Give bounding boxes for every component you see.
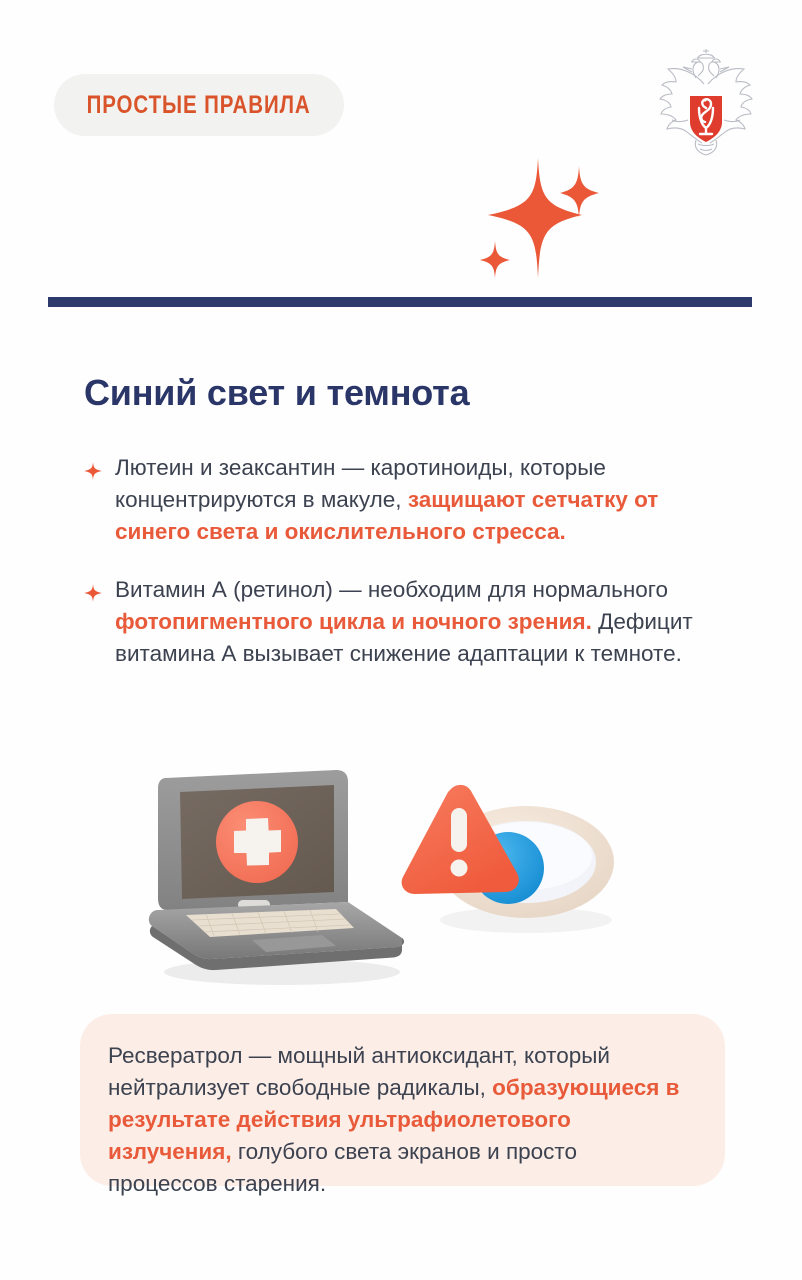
illustration-group (140, 760, 660, 990)
header-badge-label: ПРОСТЫЕ ПРАВИЛА (87, 91, 311, 120)
list-item: Лютеин и зеаксантин — каротиноиды, котор… (84, 452, 732, 548)
page-title: Синий свет и темнота (84, 372, 469, 414)
bullet-list: Лютеин и зеаксантин — каротиноиды, котор… (84, 452, 732, 696)
section-divider (48, 297, 752, 307)
russian-ministry-of-health-emblem (652, 48, 760, 158)
header-badge: ПРОСТЫЕ ПРАВИЛА (54, 74, 344, 136)
sparkle-decoration-icon (466, 152, 616, 288)
footer-note-box: Ресвератрол — мощный антиоксидант, котор… (80, 1014, 725, 1186)
infographic-page: ПРОСТЫЕ ПРАВИЛА (0, 0, 802, 1280)
sparkle-bullet-icon (84, 579, 102, 597)
list-item-text-highlight-2: фотопигментного цикла и ночного зрения. (115, 609, 592, 634)
footer-note-text: Ресвератрол — мощный антиоксидант, котор… (108, 1040, 691, 1200)
sparkle-bullet-icon (84, 457, 102, 475)
list-item-text-plain-2a: Витамин А (ретинол) — необходим для норм… (115, 577, 668, 602)
list-item: Витамин А (ретинол) — необходим для норм… (84, 574, 732, 670)
